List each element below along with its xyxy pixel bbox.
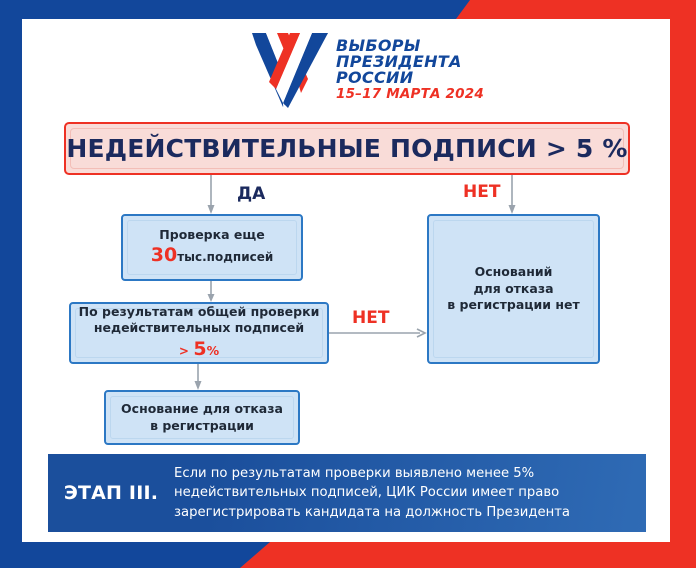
frame-red-bottom-band — [240, 542, 696, 568]
arrow-check-to-total — [206, 280, 216, 303]
further-check-unit: тыс. — [177, 250, 206, 264]
stage-banner: ЭТАП III. Если по результатам проверки в… — [48, 454, 646, 532]
refusal-ground-line-1: Основание для отказа — [121, 401, 283, 418]
further-check-tail: подписей — [207, 250, 274, 264]
logo-line-3: РОССИИ — [336, 70, 484, 86]
page-title: НЕДЕЙСТВИТЕЛЬНЫЕ ПОДПИСИ > 5 % — [66, 134, 627, 163]
arrow-total-to-refuse — [193, 363, 203, 391]
flow-box-refusal-ground: Основание для отказа в регистрации — [104, 390, 300, 445]
stage-label: ЭТАП III. — [48, 482, 174, 504]
total-check-line-3: > 5% — [179, 337, 219, 362]
frame-red-right-band — [670, 18, 696, 568]
stage-description-line-1: Если по результатам проверки выявлено ме… — [174, 464, 570, 483]
total-check-line-1: По результатам общей проверки — [79, 304, 320, 321]
flow-box-no-refusal-ground: Оснований для отказа в регистрации нет — [427, 214, 600, 364]
logo-date: 15–17 МАРТА 2024 — [336, 88, 484, 102]
flow-box-further-check-inner: Проверка еще 30тыс.подписей — [127, 220, 297, 275]
election-logo: ВЫБОРЫ ПРЕЗИДЕНТА РОССИИ 15–17 МАРТА 202… — [250, 27, 480, 113]
title-banner: НЕДЕЙСТВИТЕЛЬНЫЕ ПОДПИСИ > 5 % — [64, 122, 630, 175]
infographic-poster: ВЫБОРЫ ПРЕЗИДЕНТА РОССИИ 15–17 МАРТА 202… — [0, 0, 696, 568]
frame-red-top-band — [456, 0, 696, 19]
russia-flag-v-logo-icon — [250, 31, 330, 109]
total-check-percent: % — [207, 343, 220, 358]
flow-box-total-check: По результатам общей проверки недействит… — [69, 302, 329, 364]
no-ground-line-3: в регистрации нет — [447, 297, 580, 314]
branch-label-yes: ДА — [237, 184, 265, 204]
stage-description-line-3: зарегистрировать кандидата на должность … — [174, 503, 570, 522]
arrow-title-to-no-ground — [507, 175, 517, 215]
total-check-line-2: недействительных подписей — [94, 320, 304, 337]
branch-label-no-right: НЕТ — [463, 182, 500, 202]
no-ground-line-1: Оснований — [475, 264, 553, 281]
poster-canvas: ВЫБОРЫ ПРЕЗИДЕНТА РОССИИ 15–17 МАРТА 202… — [22, 19, 670, 542]
further-check-line-2: 30тыс.подписей — [151, 243, 274, 268]
flow-box-no-refusal-ground-inner: Оснований для отказа в регистрации нет — [433, 220, 594, 358]
arrow-title-to-check — [206, 175, 216, 215]
flow-box-further-check: Проверка еще 30тыс.подписей — [121, 214, 303, 281]
further-check-number: 30 — [151, 244, 177, 266]
refusal-ground-line-2: в регистрации — [150, 418, 254, 435]
total-check-operator: > — [179, 344, 189, 358]
flow-box-refusal-ground-inner: Основание для отказа в регистрации — [110, 396, 294, 439]
arrow-total-to-no-ground — [328, 328, 428, 338]
flow-box-total-check-inner: По результатам общей проверки недействит… — [75, 308, 323, 358]
stage-description: Если по результатам проверки выявлено ме… — [174, 464, 580, 521]
stage-description-line-2: недействительных подписей, ЦИК России им… — [174, 483, 570, 502]
further-check-line-1: Проверка еще — [159, 227, 264, 244]
total-check-value: 5 — [193, 338, 206, 360]
branch-label-no-middle: НЕТ — [352, 308, 389, 328]
no-ground-line-2: для отказа — [473, 281, 553, 298]
title-banner-inner: НЕДЕЙСТВИТЕЛЬНЫЕ ПОДПИСИ > 5 % — [70, 128, 624, 169]
